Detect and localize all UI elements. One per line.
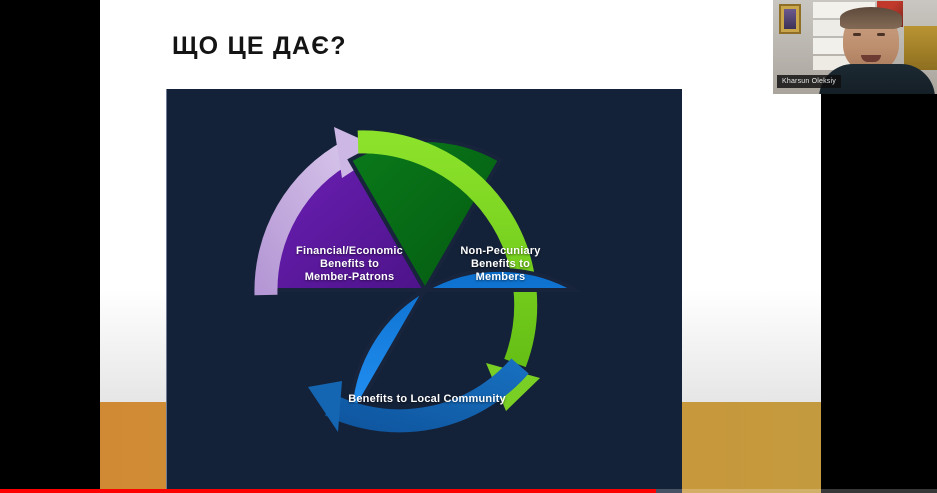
video-player[interactable]: ЩО ЦЕ ДАЄ? [0,0,937,493]
slide-title: ЩО ЦЕ ДАЄ? [172,32,347,61]
participant-eye-right [877,33,885,36]
wall-picture-frame-icon [779,4,801,34]
segment-local-community-arrow-head [308,381,342,432]
participant-hair [840,7,902,29]
video-progress-played [0,489,656,493]
video-progress-bar[interactable] [0,489,937,493]
presentation-slide: ЩО ЦЕ ДАЄ? [100,0,821,493]
letterbox-bar-left [0,0,100,493]
diagram-panel: Financial/Economic Benefits to Member-Pa… [166,89,682,493]
participant-eye-left [853,33,861,36]
three-segment-cycle-diagram: Financial/Economic Benefits to Member-Pa… [230,95,620,485]
webcam-overlay[interactable]: Kharsun Oleksiy [773,0,937,94]
webcam-participant-name: Kharsun Oleksiy [777,75,841,88]
